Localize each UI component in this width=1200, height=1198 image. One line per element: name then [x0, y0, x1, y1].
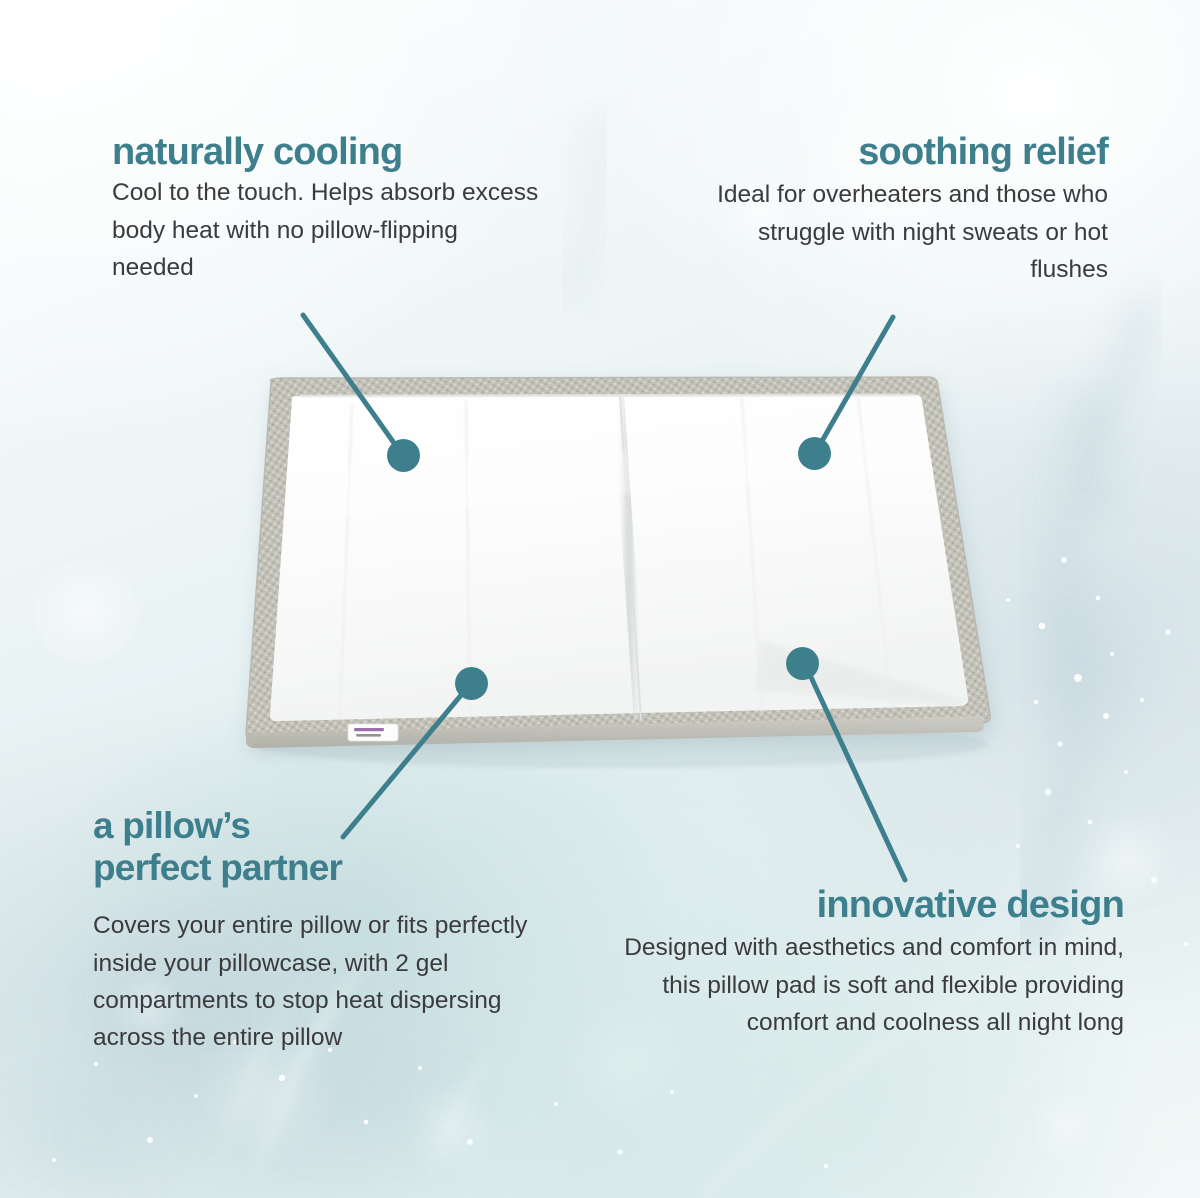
- feature-heading-line-2: perfect partner: [93, 847, 342, 888]
- callout-dot-perfect-partner[interactable]: [455, 667, 488, 700]
- feature-heading-line-1: a pillow’s: [93, 805, 250, 846]
- feature-body-naturally-cooling: Cool to the touch. Helps absorb excess b…: [112, 174, 542, 286]
- feature-heading-soothing-relief: soothing relief: [690, 132, 1108, 172]
- connector-line-soothing-relief: [822, 317, 893, 441]
- callout-dot-naturally-cooling[interactable]: [387, 439, 420, 472]
- feature-block-soothing-relief: soothing relief Ideal for overheaters an…: [690, 132, 1108, 288]
- connector-line-innovative-design: [810, 675, 905, 880]
- connector-line-naturally-cooling: [303, 315, 394, 443]
- feature-block-innovative-design: innovative design Designed with aestheti…: [600, 885, 1124, 1041]
- feature-block-perfect-partner: a pillow’s perfect partner Covers your e…: [93, 805, 545, 1056]
- infographic-canvas: naturally cooling Cool to the touch. Hel…: [0, 0, 1200, 1198]
- callout-dot-soothing-relief[interactable]: [798, 437, 831, 470]
- feature-heading-naturally-cooling: naturally cooling: [112, 132, 542, 172]
- feature-heading-perfect-partner: a pillow’s perfect partner: [93, 805, 545, 889]
- feature-body-perfect-partner: Covers your entire pillow or fits perfec…: [93, 907, 545, 1056]
- callout-dot-innovative-design[interactable]: [786, 647, 819, 680]
- feature-heading-innovative-design: innovative design: [600, 885, 1124, 925]
- feature-body-innovative-design: Designed with aesthetics and comfort in …: [600, 929, 1124, 1041]
- feature-block-naturally-cooling: naturally cooling Cool to the touch. Hel…: [112, 132, 542, 286]
- feature-body-soothing-relief: Ideal for overheaters and those who stru…: [690, 176, 1108, 288]
